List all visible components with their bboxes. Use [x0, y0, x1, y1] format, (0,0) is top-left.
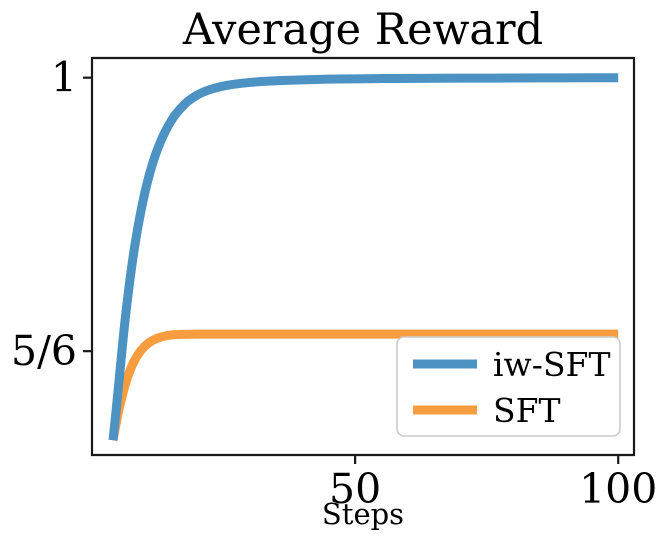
- x-tick-label: 100: [579, 465, 657, 513]
- legend-label-sft: SFT: [493, 391, 561, 430]
- y-tick-label: 5/6: [11, 327, 77, 375]
- average-reward-line-chart: Average Reward 5/61 50100 Steps iw-SFTSF…: [0, 0, 664, 554]
- legend-label-iw-sft: iw-SFT: [493, 345, 610, 384]
- y-tick-label: 1: [51, 54, 77, 102]
- chart-title: Average Reward: [182, 5, 543, 55]
- chart-legend[interactable]: iw-SFTSFT: [397, 337, 620, 436]
- chart-figure: Average Reward 5/61 50100 Steps iw-SFTSF…: [0, 0, 664, 554]
- x-axis-title: Steps: [322, 497, 404, 531]
